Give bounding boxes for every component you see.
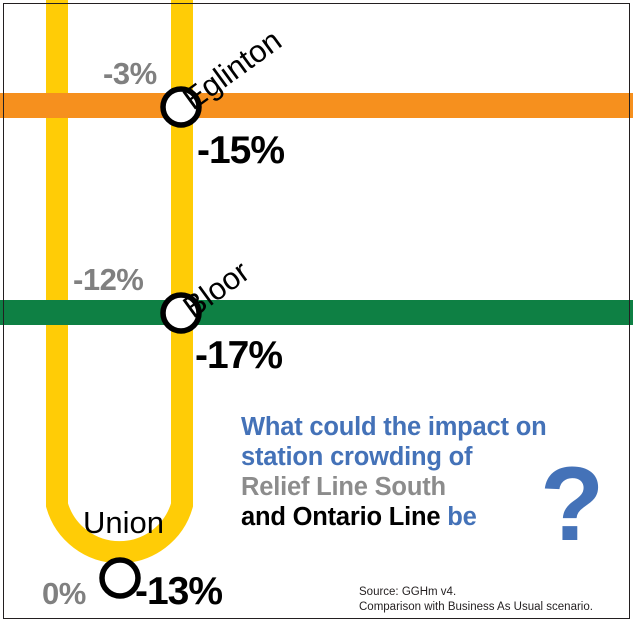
source-line-1: Source: GGHm v4. xyxy=(359,585,593,600)
eglinton-left-value: -3% xyxy=(103,58,157,89)
bloor-danforth-line xyxy=(0,300,633,325)
bloor-left-value: -12% xyxy=(73,264,143,295)
question-line-4-primary: and Ontario Line xyxy=(241,503,440,531)
question-line-1: What could the impact on xyxy=(241,412,616,442)
union-right-value: -13% xyxy=(135,572,222,611)
bloor-right-value: -17% xyxy=(195,336,282,375)
station-marker-union[interactable] xyxy=(102,560,138,596)
source-note: Source: GGHm v4. Comparison with Busines… xyxy=(359,585,593,615)
question-mark-icon: ? xyxy=(540,452,604,557)
infographic-canvas: -3% Eglinton -15% -12% Bloor -17% Union … xyxy=(0,0,633,623)
question-line-4-secondary: be xyxy=(447,503,476,531)
union-left-value: 0% xyxy=(42,578,86,609)
eglinton-right-value: -15% xyxy=(197,131,284,170)
eglinton-crosstown-line xyxy=(0,93,633,118)
union-station-label: Union xyxy=(83,507,164,538)
source-line-2: Comparison with Business As Usual scenar… xyxy=(359,600,593,615)
